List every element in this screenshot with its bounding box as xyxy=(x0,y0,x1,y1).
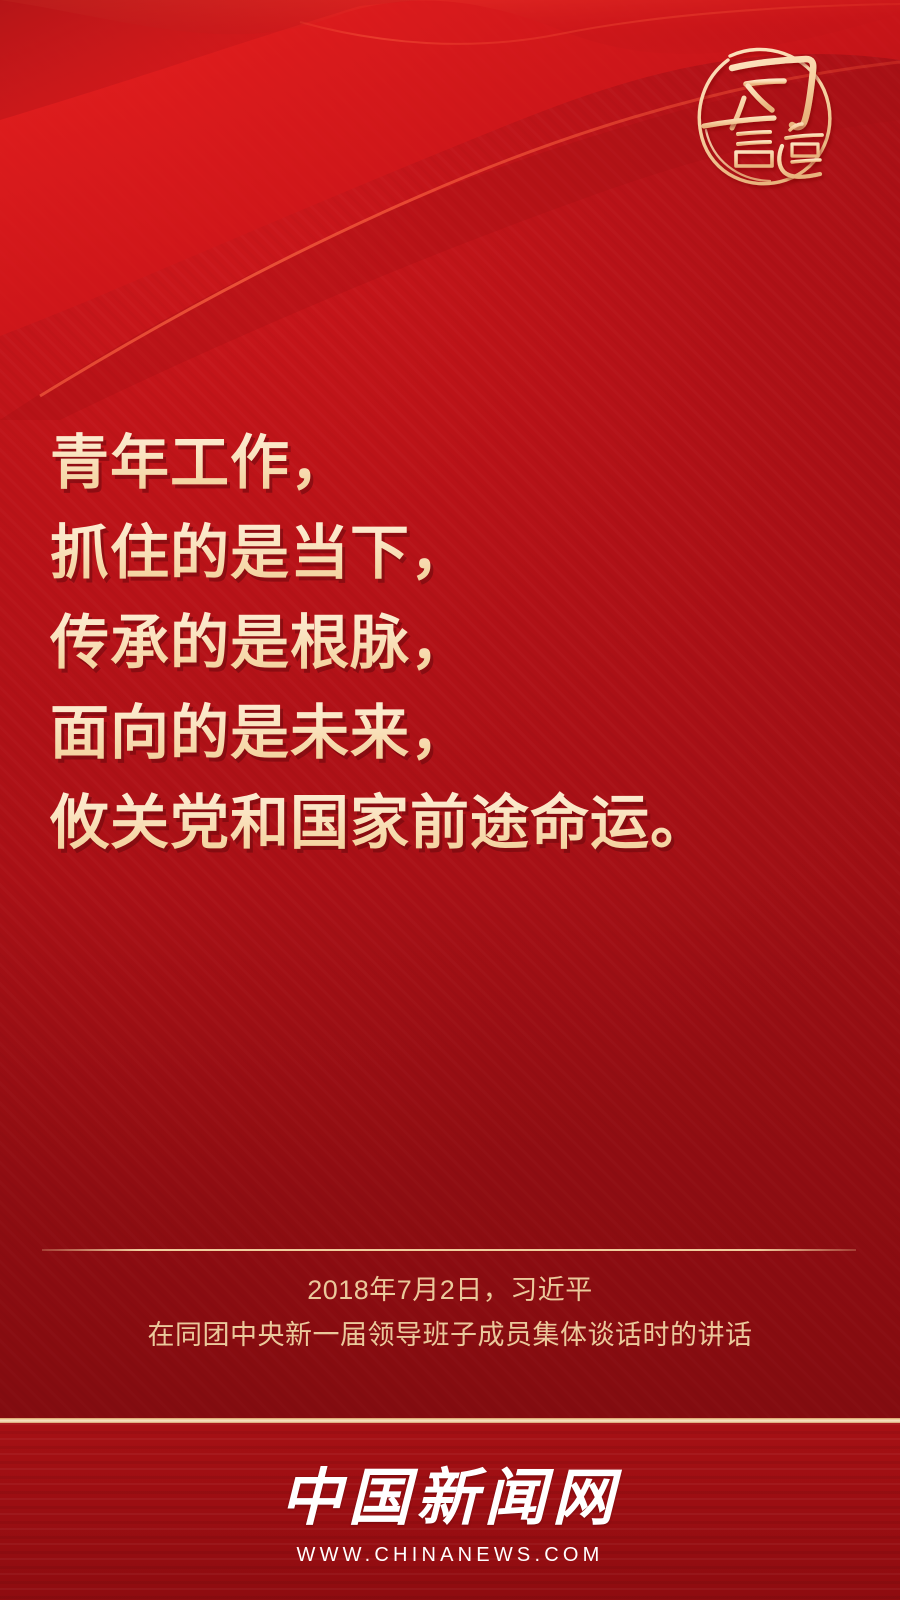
footer-band: 中国新闻网 WWW.CHINANEWS.COM xyxy=(0,1423,900,1600)
headline-line-5: 攸关党和国家前途命运。 xyxy=(50,778,850,868)
attribution-block: 2018年7月2日，习近平 在同团中央新一届领导班子成员集体谈话时的讲话 xyxy=(0,1268,900,1358)
headline-line-2: 抓住的是当下， xyxy=(50,508,850,598)
headline-line-4: 面向的是未来， xyxy=(50,688,850,778)
chinanews-url: WWW.CHINANEWS.COM xyxy=(297,1543,604,1567)
attribution-date-speaker: 2018年7月2日，习近平 xyxy=(0,1268,900,1313)
xi-yan-dao-seal-logo xyxy=(686,34,846,194)
attribution-occasion: 在同团中央新一届领导班子成员集体谈话时的讲话 xyxy=(0,1313,900,1358)
headline-line-3: 传承的是根脉， xyxy=(50,598,850,688)
chinanews-wordmark: 中国新闻网 xyxy=(280,1463,620,1535)
attribution-divider-rule xyxy=(42,1249,856,1251)
poster-root: 青年工作， 抓住的是当下， 传承的是根脉， 面向的是未来， 攸关党和国家前途命运… xyxy=(0,0,900,1600)
headline-line-1: 青年工作， xyxy=(50,418,850,508)
headline-quote: 青年工作， 抓住的是当下， 传承的是根脉， 面向的是未来， 攸关党和国家前途命运… xyxy=(50,418,850,868)
